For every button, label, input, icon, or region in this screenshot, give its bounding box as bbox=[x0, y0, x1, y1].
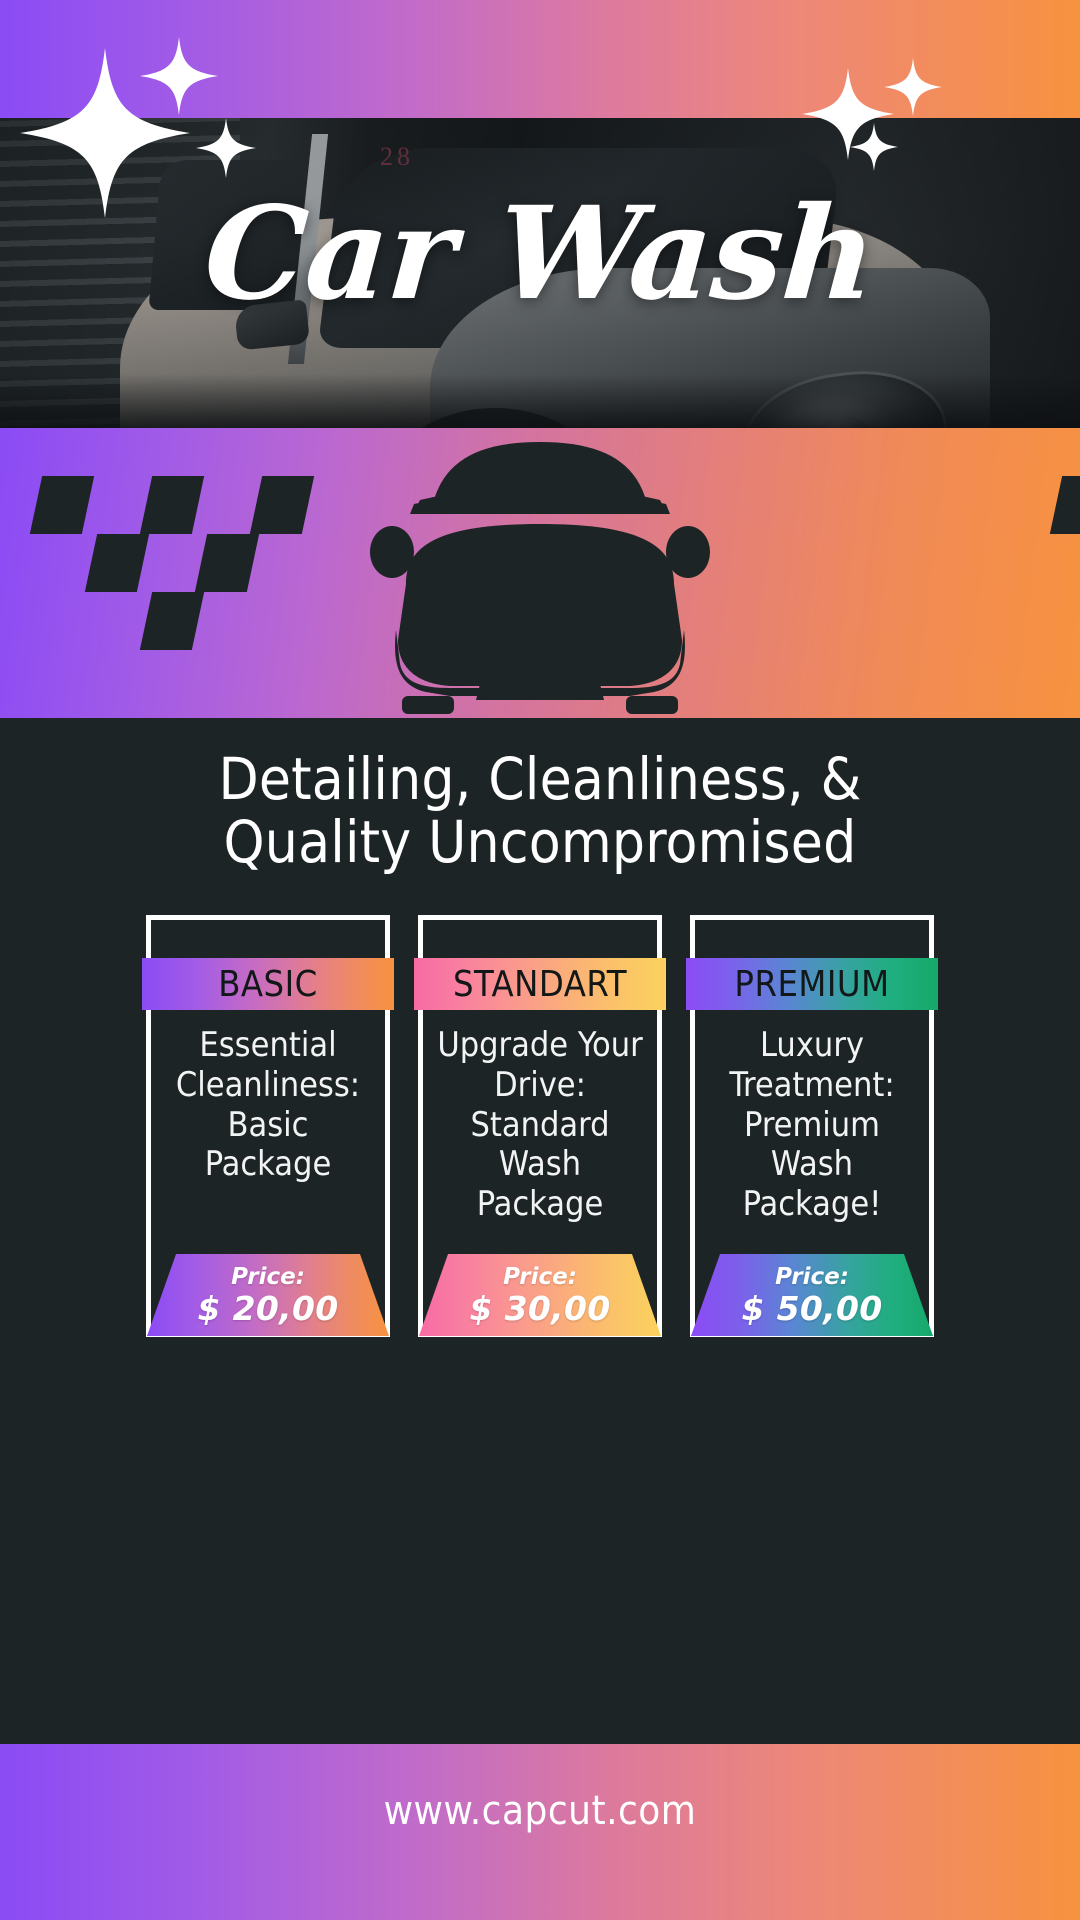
pricing-card-premium[interactable]: PREMIUM Luxury Treatment: Premium Wash P… bbox=[690, 915, 934, 1337]
card-price-tag: Price: $ 50,00 bbox=[691, 1254, 933, 1336]
card-price-tag: Price: $ 20,00 bbox=[147, 1254, 389, 1336]
price-label: Price: bbox=[503, 1266, 577, 1289]
poster-root: 28 Car Wash bbox=[0, 0, 1080, 1920]
footer-website[interactable]: www.capcut.com bbox=[0, 1788, 1080, 1834]
page-title: Car Wash bbox=[0, 190, 1080, 318]
price-value: $ 50,00 bbox=[742, 1292, 883, 1325]
price-value: $ 30,00 bbox=[470, 1292, 611, 1325]
poster-title-wrap: Car Wash bbox=[0, 190, 1080, 318]
card-price-tag: Price: $ 30,00 bbox=[419, 1254, 661, 1336]
sparkle-icon bbox=[850, 116, 898, 178]
card-description: Luxury Treatment: Premium Wash Package! bbox=[695, 1026, 929, 1225]
page-headline: Detailing, Cleanliness, & Quality Uncomp… bbox=[0, 748, 1080, 874]
card-tier-banner: STANDART bbox=[414, 958, 666, 1010]
sparkle-icon bbox=[196, 110, 256, 186]
headline-line-1: Detailing, Cleanliness, & bbox=[70, 748, 1010, 811]
sparkle-icon bbox=[140, 30, 218, 122]
price-value: $ 20,00 bbox=[198, 1292, 339, 1325]
price-label: Price: bbox=[775, 1266, 849, 1289]
pricing-cards: BASIC Essential Cleanliness: Basic Packa… bbox=[0, 915, 1080, 1337]
card-description: Essential Cleanliness: Basic Package bbox=[151, 1026, 385, 1185]
car-illustration-band bbox=[0, 428, 1080, 718]
card-description: Upgrade Your Drive: Standard Wash Packag… bbox=[423, 1026, 657, 1225]
footer-bar: www.capcut.com bbox=[0, 1744, 1080, 1920]
card-tier-banner: PREMIUM bbox=[686, 958, 938, 1010]
pricing-card-standart[interactable]: STANDART Upgrade Your Drive: Standard Wa… bbox=[418, 915, 662, 1337]
headline-line-2: Quality Uncompromised bbox=[70, 811, 1010, 874]
sparkle-icon bbox=[884, 52, 942, 122]
price-label: Price: bbox=[231, 1266, 305, 1289]
car-front-icon bbox=[330, 434, 750, 716]
card-tier-banner: BASIC bbox=[142, 958, 394, 1010]
pricing-card-basic[interactable]: BASIC Essential Cleanliness: Basic Packa… bbox=[146, 915, 390, 1337]
